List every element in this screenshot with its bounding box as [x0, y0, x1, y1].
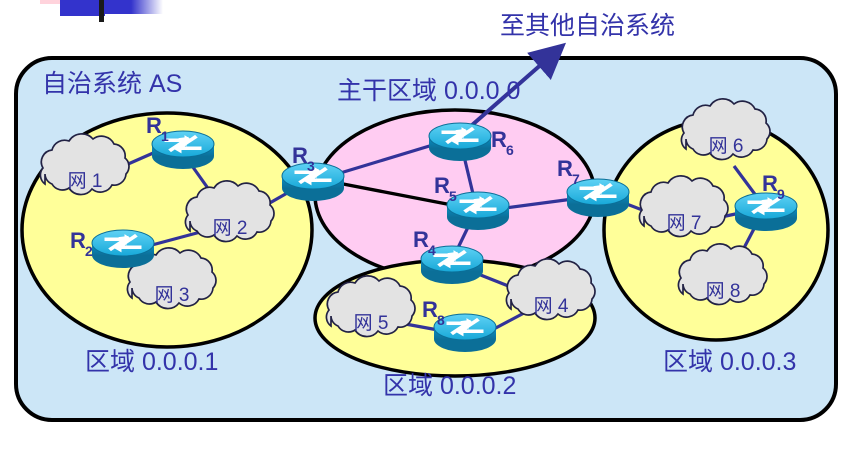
network-label-n6: 网 6	[709, 136, 744, 157]
router-sub-r8: 8	[437, 312, 445, 328]
network-label-n7: 网 7	[667, 213, 702, 234]
to-other-as-label: 至其他自治系统	[500, 12, 675, 40]
network-label-n4: 网 4	[534, 296, 569, 317]
network-label-n5: 网 5	[354, 313, 389, 334]
router-label-r8: R	[422, 297, 438, 322]
diagram-canvas: 网 1 网 2 网 3 网 4 网 5 网 6 网 7 网 8	[0, 0, 853, 450]
network-label-n2: 网 2	[213, 218, 248, 239]
router-label-r6: R	[491, 127, 507, 152]
router-sub-r2: 2	[85, 243, 93, 259]
router-sub-r6: 6	[506, 142, 514, 158]
area-label-0-0-0-3: 区域 0.0.0.3	[663, 348, 796, 376]
router-sub-r7: 7	[572, 171, 580, 187]
router-label-r1: R	[146, 113, 162, 138]
router-label-r4: R	[413, 227, 429, 252]
router-label-r3: R	[292, 143, 308, 168]
router-sub-r9: 9	[777, 186, 785, 202]
router-label-r5: R	[434, 173, 450, 198]
area-label-0-0-0-2: 区域 0.0.0.2	[383, 372, 516, 400]
network-diagram: 网 1 网 2 网 3 网 4 网 5 网 6 网 7 网 8	[0, 0, 853, 450]
network-label-n8: 网 8	[706, 281, 741, 302]
router-label-r2: R	[70, 228, 86, 253]
backbone-area-label: 主干区域 0.0.0.0	[337, 77, 520, 105]
router-sub-r4: 4	[428, 242, 436, 258]
network-label-n1: 网 1	[68, 171, 103, 192]
router-sub-r5: 5	[449, 188, 457, 204]
as-label: 自治系统 AS	[42, 70, 182, 98]
area-label-0-0-0-1: 区域 0.0.0.1	[85, 348, 218, 376]
network-label-n3: 网 3	[155, 285, 190, 306]
router-sub-r3: 3	[307, 158, 315, 174]
router-label-r7: R	[557, 156, 573, 181]
decorative-header-bar	[40, 0, 163, 22]
router-sub-r1: 1	[161, 128, 169, 144]
router-label-r9: R	[762, 171, 778, 196]
